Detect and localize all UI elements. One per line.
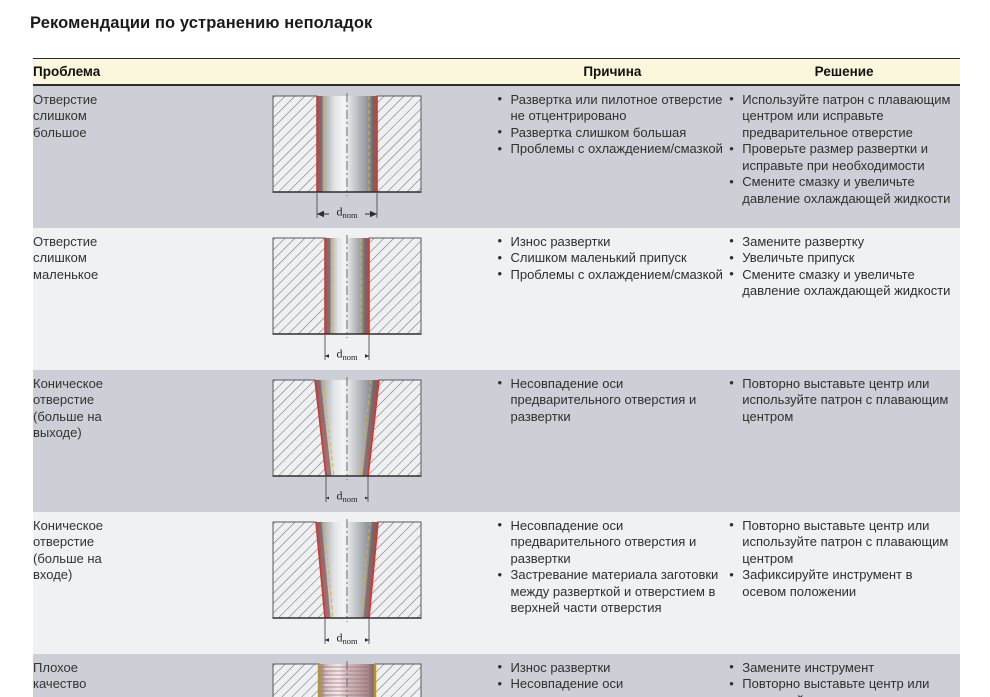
cause-list: Износ разверткиСлишком маленький припуск… (497, 234, 729, 284)
cell-solution: Повторно выставьте центр или используйте… (728, 512, 960, 654)
cause-list: Несовпадение оси предварительного отверс… (497, 518, 729, 618)
cell-cause: Износ разверткиНесовпадение оси предвари… (497, 654, 729, 697)
cause-item: Развертка или пилотное отверстие не отце… (497, 92, 729, 125)
table-row: Коническоеотверстие(больше навыходе)dnom… (33, 370, 960, 512)
cause-item: Слишком маленький припуск (497, 250, 729, 267)
solution-item: Зафиксируйте инструмент в осевом положен… (728, 567, 960, 600)
table-row: ОтверстиеслишкомбольшоеdnomРазвертка или… (33, 85, 960, 228)
cause-list: Развертка или пилотное отверстие не отце… (497, 92, 729, 158)
cause-item: Проблемы с охлаждением/смазкой (497, 141, 729, 158)
cell-solution: Используйте патрон с плавающим центром и… (728, 85, 960, 228)
cause-item: Несовпадение оси предварительного отверс… (497, 518, 729, 568)
hole-too-large-section: dnom (269, 92, 441, 226)
cause-item: Развертка слишком большая (497, 125, 729, 142)
cause-item: Несовпадение оси предварительного отверс… (497, 676, 729, 697)
problem-label: Отверстиеслишкомбольшое (33, 86, 265, 148)
solution-list: Повторно выставьте центр или используйте… (728, 518, 960, 601)
cell-figure: dnom (265, 85, 497, 228)
cause-item: Застревание материала заготовки между ра… (497, 567, 729, 617)
figure-wrapper (269, 660, 441, 697)
cell-cause: Износ разверткиСлишком маленький припуск… (497, 228, 729, 370)
solution-item: Замените инструмент (728, 660, 960, 677)
cause-item: Износ развертки (497, 234, 729, 251)
table-row: ПлохоекачествоповерхностиИзнос развертки… (33, 654, 960, 697)
troubleshooting-table: Проблема Причина Решение Отверстиеслишко… (33, 58, 960, 697)
solution-item: Смените смазку и увеличьте давление охла… (728, 174, 960, 207)
solution-item: Повторно выставьте центр или используйте… (728, 376, 960, 426)
solution-item: Повторно выставьте центр или используйте… (728, 518, 960, 568)
tapered-hole-wider-at-entry-section: dnom (269, 518, 441, 652)
column-header-problem: Проблема (33, 59, 497, 85)
cell-figure (265, 654, 497, 697)
solution-item: Замените развертку (728, 234, 960, 251)
table-head: Проблема Причина Решение (33, 59, 960, 85)
cell-problem: Коническоеотверстие(больше навходе) (33, 512, 265, 654)
tapered-hole-wider-at-exit-section: dnom (269, 376, 441, 510)
figure-wrapper: dnom (269, 376, 441, 510)
cause-item: Несовпадение оси предварительного отверс… (497, 376, 729, 426)
cause-list: Износ разверткиНесовпадение оси предвари… (497, 660, 729, 697)
solution-item: Увеличьте припуск (728, 250, 960, 267)
cell-solution: Замените инструментПовторно выставьте це… (728, 654, 960, 697)
cell-problem: Коническоеотверстие(больше навыходе) (33, 370, 265, 512)
figure-wrapper: dnom (269, 518, 441, 652)
cell-problem: Отверстиеслишкомбольшое (33, 85, 265, 228)
solution-item: Повторно выставьте центр или используйте… (728, 676, 960, 697)
solution-item: Используйте патрон с плавающим центром и… (728, 92, 960, 142)
cell-figure: dnom (265, 228, 497, 370)
table-row: ОтверстиеслишкоммаленькоеdnomИзнос разве… (33, 228, 960, 370)
cell-solution: Повторно выставьте центр или используйте… (728, 370, 960, 512)
solution-list: Замените разверткуУвеличьте припускСмени… (728, 234, 960, 300)
cell-figure: dnom (265, 512, 497, 654)
table-header-row: Проблема Причина Решение (33, 59, 960, 85)
table-body: ОтверстиеслишкомбольшоеdnomРазвертка или… (33, 85, 960, 697)
problem-label: Отверстиеслишкоммаленькое (33, 228, 265, 290)
solution-item: Проверьте размер развертки и исправьте п… (728, 141, 960, 174)
table-row: Коническоеотверстие(больше навходе)dnomН… (33, 512, 960, 654)
cell-cause: Несовпадение оси предварительного отверс… (497, 512, 729, 654)
problem-label: Коническоеотверстие(больше навходе) (33, 512, 265, 590)
cause-item: Износ развертки (497, 660, 729, 677)
column-header-solution: Решение (728, 59, 960, 85)
cell-cause: Развертка или пилотное отверстие не отце… (497, 85, 729, 228)
cell-figure: dnom (265, 370, 497, 512)
solution-list: Повторно выставьте центр или используйте… (728, 376, 960, 426)
hole-too-small-section: dnom (269, 234, 441, 368)
figure-wrapper: dnom (269, 92, 441, 226)
column-header-cause: Причина (497, 59, 729, 85)
cell-problem: Отверстиеслишкоммаленькое (33, 228, 265, 370)
cell-problem: Плохоекачествоповерхности (33, 654, 265, 697)
page-title: Рекомендации по устранению неполадок (30, 14, 372, 33)
poor-surface-finish-section (269, 660, 441, 697)
cause-item: Проблемы с охлаждением/смазкой (497, 267, 729, 284)
figure-wrapper: dnom (269, 234, 441, 368)
problem-label: Коническоеотверстие(больше навыходе) (33, 370, 265, 448)
problem-label: Плохоекачествоповерхности (33, 654, 265, 697)
cell-cause: Несовпадение оси предварительного отверс… (497, 370, 729, 512)
page-root: Рекомендации по устранению неполадок Про… (0, 0, 990, 697)
cell-solution: Замените разверткуУвеличьте припускСмени… (728, 228, 960, 370)
solution-list: Используйте патрон с плавающим центром и… (728, 92, 960, 208)
cause-list: Несовпадение оси предварительного отверс… (497, 376, 729, 426)
solution-list: Замените инструментПовторно выставьте це… (728, 660, 960, 697)
solution-item: Смените смазку и увеличьте давление охла… (728, 267, 960, 300)
